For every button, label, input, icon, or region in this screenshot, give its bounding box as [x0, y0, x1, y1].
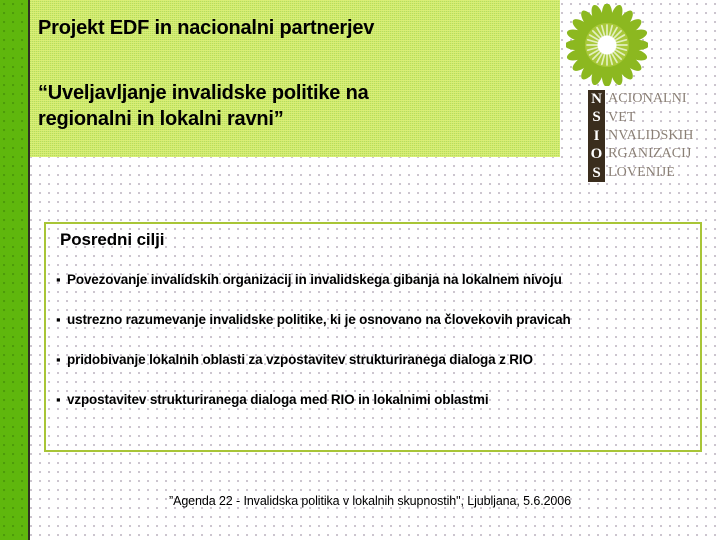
logo-initial: I — [588, 127, 605, 145]
logo-initial: N — [588, 90, 605, 108]
logo-word: VET — [605, 110, 636, 126]
footer-note: ”Agenda 22 - Invalidska politika v lokal… — [60, 494, 680, 508]
list-item-text: ustrezno razumevanje invalidske politike… — [67, 312, 696, 328]
logo-row: S VET — [588, 108, 716, 126]
logo-row: O RGANIZACIJ — [588, 145, 716, 163]
list-item-text: vzpostavitev strukturiranega dialoga med… — [67, 392, 696, 408]
presentation-slide: Projekt EDF in nacionalni partnerjev “Uv… — [0, 0, 720, 540]
logo-initial: S — [588, 164, 605, 182]
list-item-text: Povezovanje invalidskih organizacij in i… — [67, 272, 696, 288]
bullet-square-icon: ▪ — [56, 352, 67, 368]
logo-initial: S — [588, 108, 605, 126]
objectives-list: ▪ Povezovanje invalidskih organizacij in… — [56, 272, 696, 432]
content-heading: Posredni cilji — [60, 230, 164, 250]
list-item: ▪ Povezovanje invalidskih organizacij in… — [56, 272, 696, 312]
list-item: ▪ ustrezno razumevanje invalidske politi… — [56, 312, 696, 352]
header-panel: Projekt EDF in nacionalni partnerjev “Uv… — [30, 0, 560, 157]
logo-word: ACIONALNI — [605, 91, 687, 107]
page-subtitle-line-2: regionalni in lokalni ravni” — [38, 106, 538, 132]
page-subtitle: “Uveljavljanje invalidske politike na re… — [38, 80, 538, 132]
left-accent-bar — [0, 0, 28, 540]
logo-row: N ACIONALNI — [588, 90, 716, 108]
logo-word: NVALIDSKIH — [605, 128, 694, 144]
logo-word: LOVENIJE — [605, 165, 675, 181]
logo-word: RGANIZACIJ — [605, 146, 691, 162]
list-item: ▪ pridobivanje lokalnih oblasti za vzpos… — [56, 352, 696, 392]
logo-wordmark: N ACIONALNI S VET I NVALIDSKIH O RGANIZA… — [588, 90, 716, 182]
sunflower-logo-icon — [566, 4, 648, 86]
content-box: Posredni cilji ▪ Povezovanje invalidskih… — [44, 222, 702, 452]
bullet-square-icon: ▪ — [56, 312, 67, 328]
bullet-square-icon: ▪ — [56, 272, 67, 288]
logo-row: S LOVENIJE — [588, 164, 716, 182]
logo-initial: O — [588, 145, 605, 163]
list-item-text: pridobivanje lokalnih oblasti za vzposta… — [67, 352, 696, 368]
list-item: ▪ vzpostavitev strukturiranega dialoga m… — [56, 392, 696, 432]
logo-row: I NVALIDSKIH — [588, 127, 716, 145]
page-subtitle-line-1: “Uveljavljanje invalidske politike na — [38, 80, 538, 106]
organization-logo: N ACIONALNI S VET I NVALIDSKIH O RGANIZA… — [566, 4, 716, 182]
page-title: Projekt EDF in nacionalni partnerjev — [38, 16, 553, 40]
bullet-square-icon: ▪ — [56, 392, 67, 408]
